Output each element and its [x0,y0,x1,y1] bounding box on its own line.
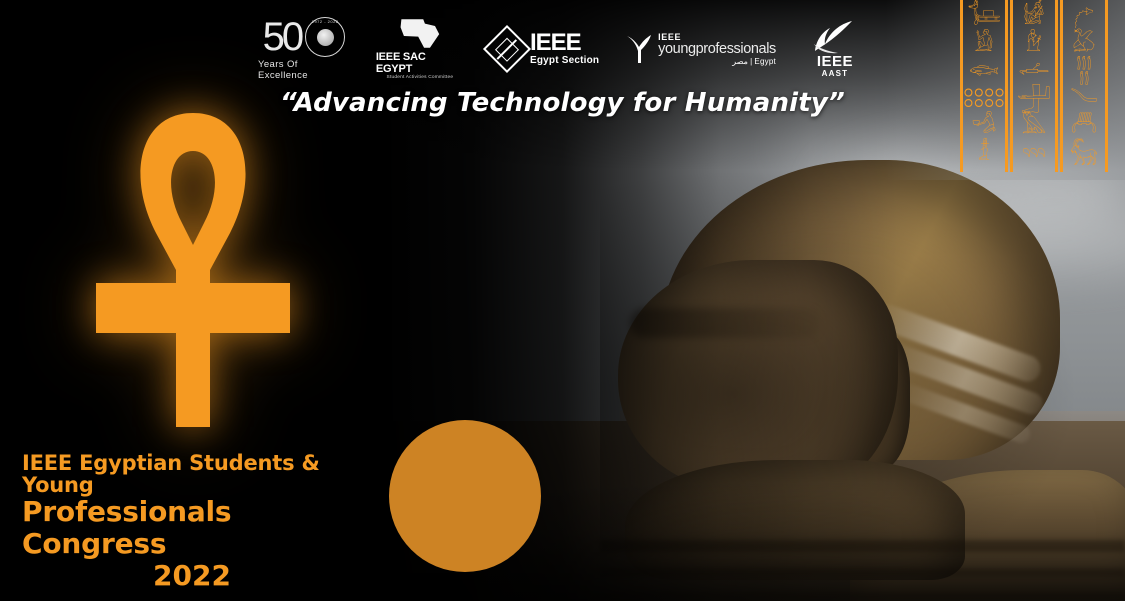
event-title-block: IEEE Egyptian Students & Young Professio… [22,452,362,593]
event-title-line-2: Professionals Congress [22,496,362,560]
logo-ieee-young-professionals: IEEE youngprofessionals مصر | Egypt [626,25,776,73]
sponsor-logo-row: 50 1972 - 2022 Years Of Excellence IEEE … [258,18,868,80]
event-title-line-1: IEEE Egyptian Students & Young [22,452,362,496]
wreath-core-icon [317,29,334,46]
hieroglyph: 𓍄 [967,7,1000,29]
fifty-number: 50 [263,17,302,57]
hieroglyph: 𓂱 [1076,61,1092,83]
ieee-egypt-section-label: Egypt Section [530,55,599,66]
yp-sprout-icon [626,34,652,64]
hieroglyph: 𓅷 [1073,34,1096,56]
hieroglyph: 𓁯 [978,143,990,165]
logo-ieee-egypt-section: IEEE Egypt Section [490,23,600,75]
orange-circle-accent [389,420,541,572]
poster-canvas: 𓍄 𓁎 𓆟 𓃐 𓁉 𓁯 𓀎 𓁞 𓌡 𓃁 𓅓 𓄺 𓂐 𓅷 𓂱 𓄏 𓄫 𓃵 [0,0,1125,601]
hieroglyph: 𓄫 [1071,116,1097,138]
tagline-text: “Advancing Technology for Humanity” [0,88,1125,118]
event-title-year: 2022 [22,560,362,592]
yp-wordmark: youngprofessionals [658,42,776,57]
aast-sail-icon [812,20,858,54]
hieroglyph-column: 𓂐 𓅷 𓂱 𓄏 𓄫 𓃵 [1060,0,1108,172]
hieroglyph: 𓃵 [1070,143,1098,165]
hieroglyph: 𓌡 [1019,61,1050,83]
aast-label: AAST [822,69,849,78]
wreath-emblem: 1972 - 2022 [305,17,345,57]
aast-ieee-label: IEEE [817,54,853,69]
hieroglyph: 𓁉 [972,116,997,138]
wreath-years-label: 1972 - 2022 [306,19,344,24]
hieroglyph: 𓄺 [1022,143,1046,165]
ieee-diamond-icon [483,25,531,73]
egypt-map-icon [399,18,441,49]
ieee-diamond-inner-icon [495,37,519,61]
ankh-icon [78,105,308,435]
hieroglyph: 𓀎 [1023,7,1044,29]
hieroglyph: 𓁎 [975,34,994,56]
hieroglyph: 𓂐 [1074,7,1094,29]
logo-ieee-sac-egypt: IEEE SAC EGYPT Student Activities Commit… [376,18,464,80]
hieroglyph-column: 𓀎 𓁞 𓌡 𓃁 𓅓 𓄺 [1010,0,1058,172]
logo-50-years-of-excellence: 50 1972 - 2022 Years Of Excellence [258,19,350,79]
hieroglyph: 𓅓 [1022,116,1047,138]
hieroglyph-panel: 𓍄 𓁎 𓆟 𓃐 𓁉 𓁯 𓀎 𓁞 𓌡 𓃁 𓅓 𓄺 𓂐 𓅷 𓂱 𓄏 𓄫 𓃵 [960,0,1115,172]
hieroglyph: 𓁞 [1026,34,1042,56]
hieroglyph: 𓆟 [969,61,999,83]
yp-locale-label: مصر | Egypt [658,57,776,66]
sac-title: IEEE SAC EGYPT [376,51,464,75]
ieee-wordmark: IEEE [530,32,599,55]
logo-ieee-aast: IEEE AAST [802,20,868,78]
years-of-excellence-caption: Years Of Excellence [258,59,350,81]
sac-subtitle: Student Activities Committee [387,75,454,80]
hieroglyph-column: 𓍄 𓁎 𓆟 𓃐 𓁉 𓁯 [960,0,1008,172]
